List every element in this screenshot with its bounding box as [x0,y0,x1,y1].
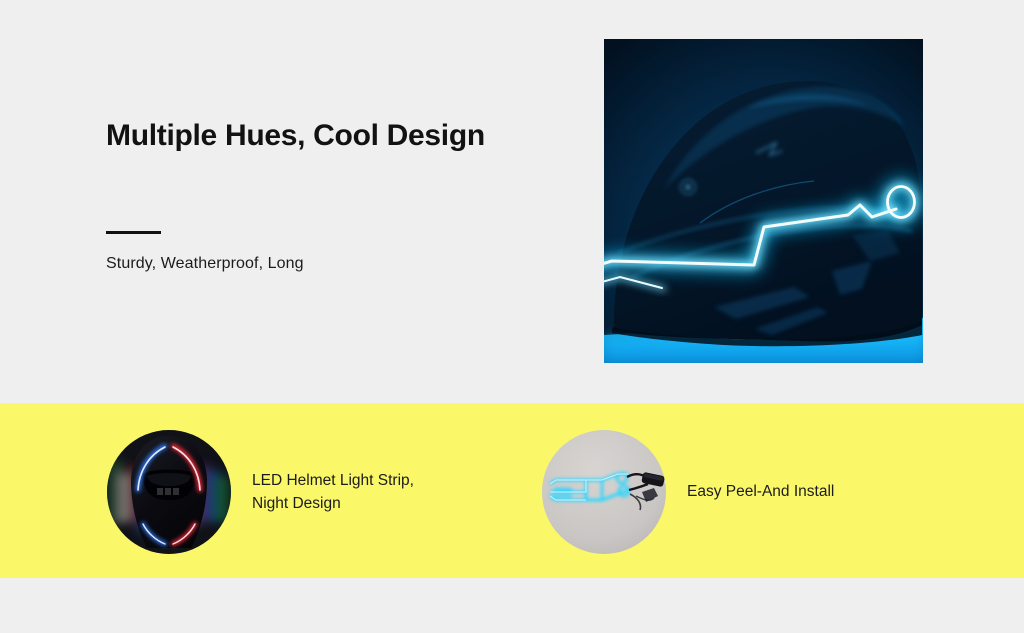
feature-band: LED Helmet Light Strip, Night Design [0,403,1024,578]
light-strip-kit-thumbnail [542,430,666,554]
feature-caption: LED Helmet Light Strip, Night Design [252,469,414,516]
hero-section: Multiple Hues, Cool Design Sturdy, Weath… [0,0,1024,403]
helmet-night-illustration [107,430,231,554]
helmet-night-thumbnail [107,430,231,554]
helmet-el-wire-illustration [604,39,923,363]
feature-caption: Easy Peel-And Install [687,480,834,503]
feature-item-led-strip: LED Helmet Light Strip, Night Design [107,430,414,554]
hero-image [604,39,923,363]
page-title: Multiple Hues, Cool Design [106,118,576,153]
hero-subtitle: Sturdy, Weatherproof, Long [106,255,576,273]
light-strip-kit-illustration [542,430,666,554]
hero-text-block: Multiple Hues, Cool Design Sturdy, Weath… [106,118,576,273]
bottom-strip [0,578,1024,633]
feature-item-peel-install: Easy Peel-And Install [542,430,834,554]
title-divider [106,231,161,234]
